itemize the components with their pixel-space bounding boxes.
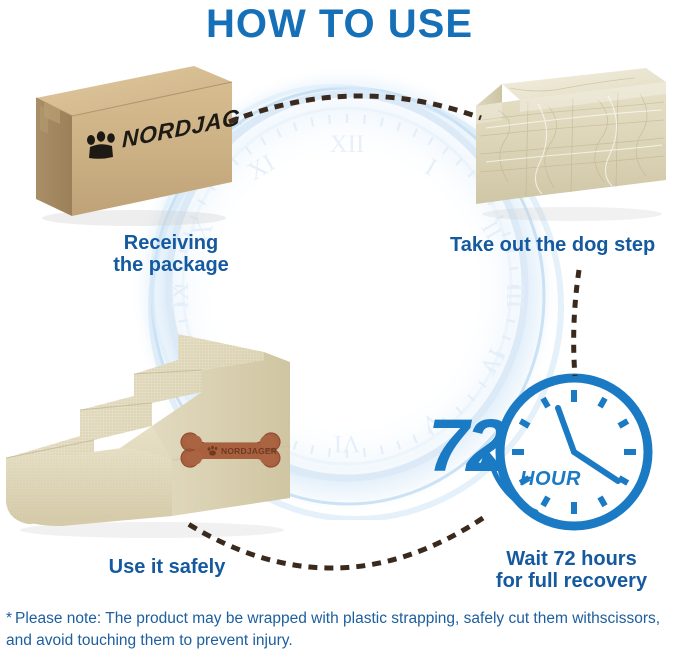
footnote: *Please note: The product may be wrapped… [6, 608, 674, 652]
cardboard-box-image: NORDJAGER [26, 58, 241, 228]
step-label-receiving: Receiving the package [76, 232, 266, 277]
step-label-take-out: Take out the dog step [450, 234, 679, 256]
footnote-marker: * [6, 610, 12, 627]
svg-text:NORDJAGER: NORDJAGER [221, 446, 277, 456]
infographic-page: HOW TO USE [0, 0, 679, 659]
dog-step-stairs-image: NORDJAGER [2, 330, 300, 542]
step-label-use-safely: Use it safely [62, 556, 272, 578]
svg-text:XI: XI [243, 149, 279, 186]
connector-box-to-wrapped [225, 80, 485, 140]
svg-text:VI: VI [334, 430, 360, 457]
clock-number-72: 72 [428, 409, 504, 483]
svg-text:III: III [501, 284, 528, 309]
step-label-wait: Wait 72 hours for full recovery [464, 548, 679, 593]
page-title: HOW TO USE [0, 2, 679, 47]
svg-text:IX: IX [167, 283, 194, 309]
svg-text:XII: XII [330, 131, 365, 158]
footnote-text: Please note: The product may be wrapped … [6, 610, 660, 649]
shrink-wrapped-product-image [468, 62, 676, 224]
svg-text:I: I [420, 154, 441, 182]
clock-unit-label: HOUR [520, 468, 581, 491]
